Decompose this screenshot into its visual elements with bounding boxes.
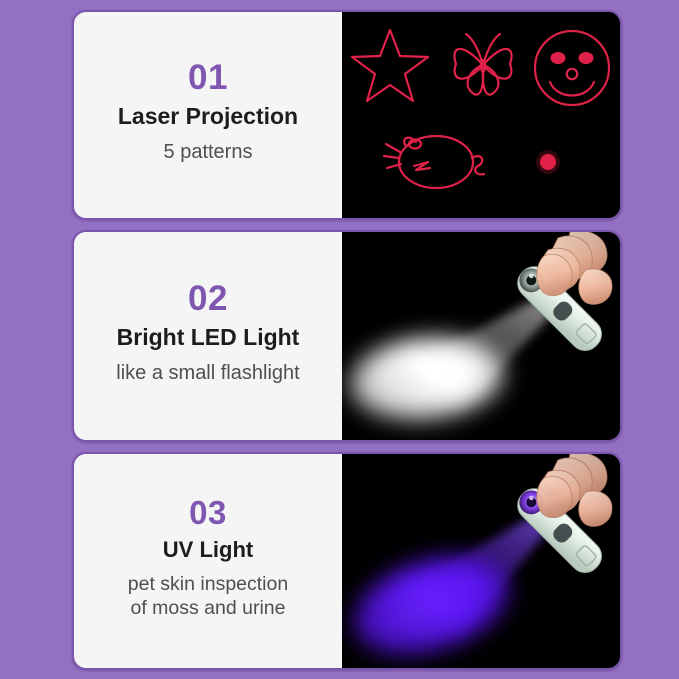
uv-scene xyxy=(342,454,620,668)
card-text-panel: 03 UV Light pet skin inspection of moss … xyxy=(74,454,342,668)
led-beam-panel xyxy=(342,232,620,440)
card-number: 02 xyxy=(188,281,228,318)
laser-pattern-panel xyxy=(342,12,620,218)
feature-card-bright-led-light: 02 Bright LED Light like a small flashli… xyxy=(72,230,622,442)
uv-beam-panel xyxy=(342,454,620,668)
card-subtitle-line-2: of moss and urine xyxy=(128,597,288,621)
card-title: Bright LED Light xyxy=(117,323,300,352)
flashlight-illustration xyxy=(474,232,620,368)
hand-fingertip xyxy=(537,254,572,295)
card-subtitle: 5 patterns xyxy=(164,140,253,164)
card-number: 01 xyxy=(188,60,228,97)
flashlight-illustration xyxy=(474,454,620,590)
card-subtitle-line-1: pet skin inspection xyxy=(128,573,288,597)
card-number: 03 xyxy=(189,496,227,531)
laser-patterns-illustration xyxy=(342,12,620,218)
feature-card-laser-projection: 01 Laser Projection 5 patterns xyxy=(72,10,622,220)
feature-card-uv-light: 03 UV Light pet skin inspection of moss … xyxy=(72,452,622,670)
card-subtitle: pet skin inspection of moss and urine xyxy=(128,573,288,621)
card-text-panel: 02 Bright LED Light like a small flashli… xyxy=(74,232,342,440)
torch-with-hand-white xyxy=(474,232,620,368)
laser-dot-icon xyxy=(536,150,560,174)
infographic-board: 01 Laser Projection 5 patterns xyxy=(0,0,679,679)
led-scene xyxy=(342,232,620,440)
torch-with-hand-uv xyxy=(474,454,620,590)
card-text-panel: 01 Laser Projection 5 patterns xyxy=(74,12,342,218)
hand-fingertip xyxy=(537,476,572,517)
card-title: UV Light xyxy=(163,536,253,564)
card-subtitle: like a small flashlight xyxy=(116,361,299,385)
card-title: Laser Projection xyxy=(118,102,298,131)
